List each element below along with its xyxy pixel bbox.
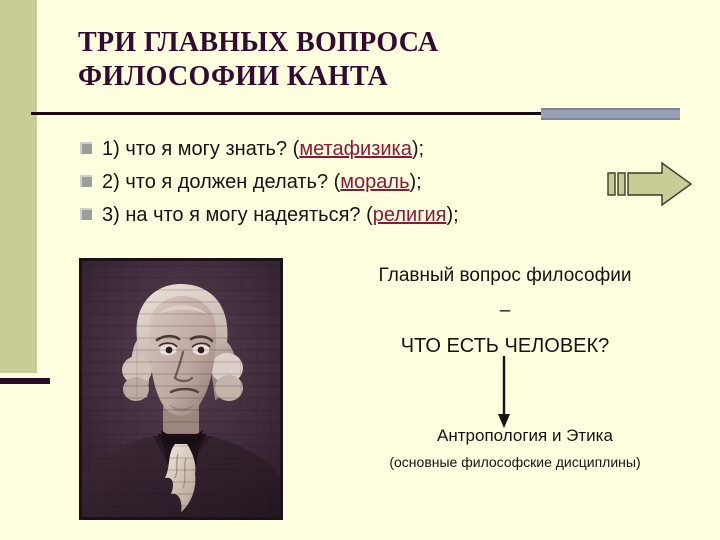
list-item-text: 1) что я могу знать? (метафизика); <box>102 134 424 164</box>
page-title-line-2: ФИЛОСОФИИ КАНТА <box>78 60 638 94</box>
list-item-suffix: ); <box>410 171 422 193</box>
square-bullet-icon <box>80 208 92 220</box>
page-title: ТРИ ГЛАВНЫХ ВОПРОСА ФИЛОСОФИИ КАНТА <box>78 26 638 94</box>
conclusion-main-question: Главный вопрос философии <box>310 262 700 290</box>
portrait-immanuel-kant <box>79 258 283 520</box>
list-item: 1) что я могу знать? (метафизика); <box>80 134 640 167</box>
question-list: 1) что я могу знать? (метафизика); 2) чт… <box>80 134 640 233</box>
square-bullet-icon <box>80 142 92 154</box>
list-item-keyword: метафизика <box>299 138 412 160</box>
left-accent-band <box>0 0 37 373</box>
right-arrow-icon <box>606 160 694 208</box>
page-title-line-1: ТРИ ГЛАВНЫХ ВОПРОСА <box>78 26 638 60</box>
conclusion-disciplines-note: (основные философские дисциплины) <box>310 452 720 472</box>
title-divider-bar <box>541 108 680 120</box>
list-item-prefix: 2) что я должен делать? ( <box>102 171 340 193</box>
list-item-prefix: 3) на что я могу надеяться? ( <box>102 204 373 226</box>
square-bullet-icon <box>80 175 92 187</box>
conclusion-disciplines: Антропология и Этика <box>330 424 720 448</box>
list-item-text: 2) что я должен делать? (мораль); <box>102 167 422 197</box>
list-item: 3) на что я могу надеяться? (религия); <box>80 200 640 233</box>
list-item-text: 3) на что я могу надеяться? (религия); <box>102 200 459 230</box>
list-item-prefix: 1) что я могу знать? ( <box>102 138 299 160</box>
left-accent-bar <box>0 378 50 384</box>
list-item-keyword: религия <box>373 204 447 226</box>
title-divider-line <box>31 112 541 115</box>
conclusion-dash: – <box>310 297 700 325</box>
list-item-keyword: мораль <box>340 171 409 193</box>
slide-canvas: ТРИ ГЛАВНЫХ ВОПРОСА ФИЛОСОФИИ КАНТА 1) ч… <box>0 0 720 540</box>
list-item: 2) что я должен делать? (мораль); <box>80 167 640 200</box>
list-item-suffix: ); <box>412 138 424 160</box>
list-item-suffix: ); <box>447 204 459 226</box>
down-arrow-icon <box>488 356 520 430</box>
